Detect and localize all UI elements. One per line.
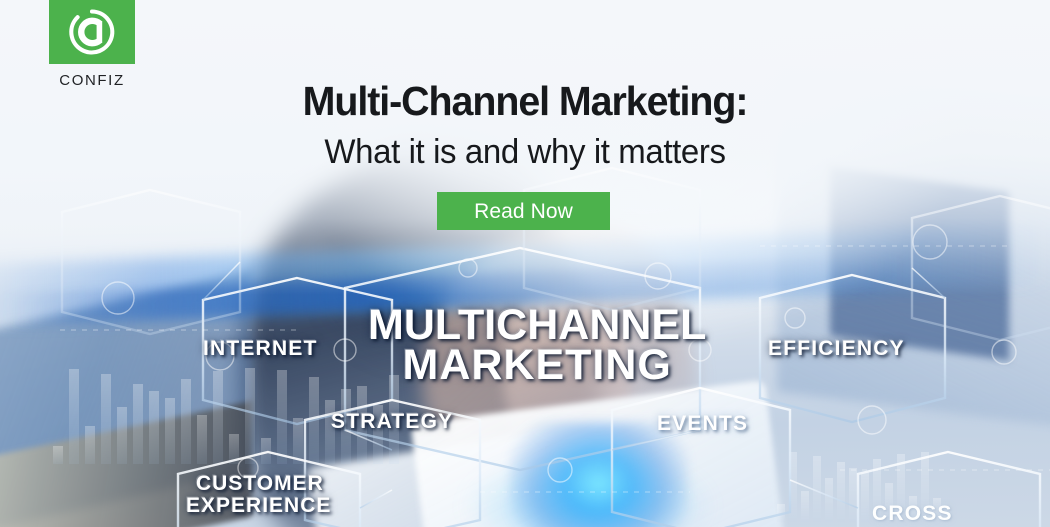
hex-label-center: MULTICHANNEL MARKETING [368,305,706,386]
hex-label-center-line2: MARKETING [368,345,706,385]
page-title: Multi-Channel Marketing: [21,78,1029,125]
hex-label-customer-experience: CUSTOMER EXPERIENCE [196,473,331,516]
read-now-button[interactable]: Read Now [437,192,610,230]
hex-label-strategy: STRATEGY [331,410,453,434]
brand-logo[interactable]: CONFIZ [49,0,135,89]
hex-label-internet: INTERNET [203,337,318,361]
hex-label-cross: CROSS [872,502,953,526]
hex-label-events: EVENTS [657,412,748,436]
hex-label-customer-line2: EXPERIENCE [186,495,331,517]
hex-label-customer-line1: CUSTOMER [196,472,324,495]
hex-label-efficiency: EFFICIENCY [768,337,905,361]
confiz-c-monogram-icon [49,0,135,64]
marketing-banner: MULTICHANNEL MARKETING INTERNET EFFICIEN… [0,0,1050,527]
page-subtitle: What it is and why it matters [16,133,1035,172]
